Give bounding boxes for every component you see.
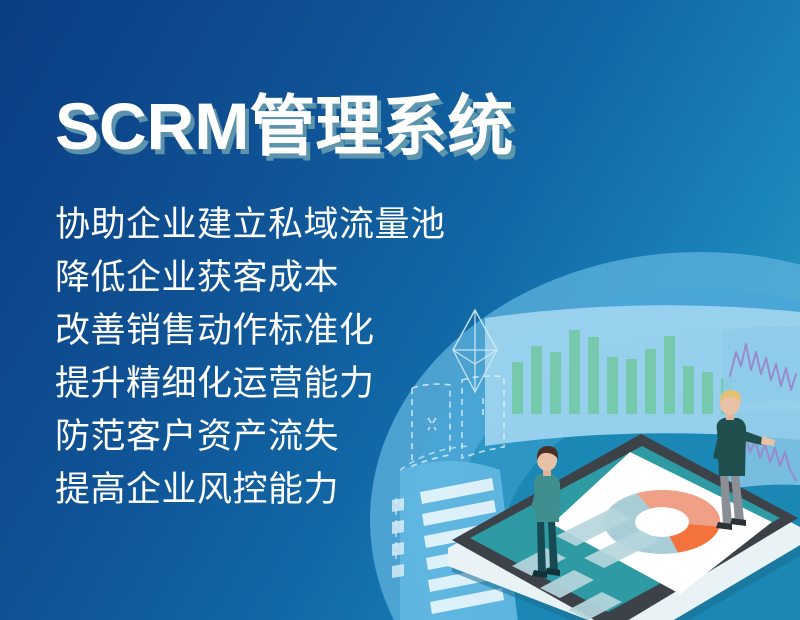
illustration-artwork [0,0,800,620]
scrm-promo-banner: SCRM管理系统 协助企业建立私域流量池 降低企业获客成本 改善销售动作标准化 … [0,0,800,620]
